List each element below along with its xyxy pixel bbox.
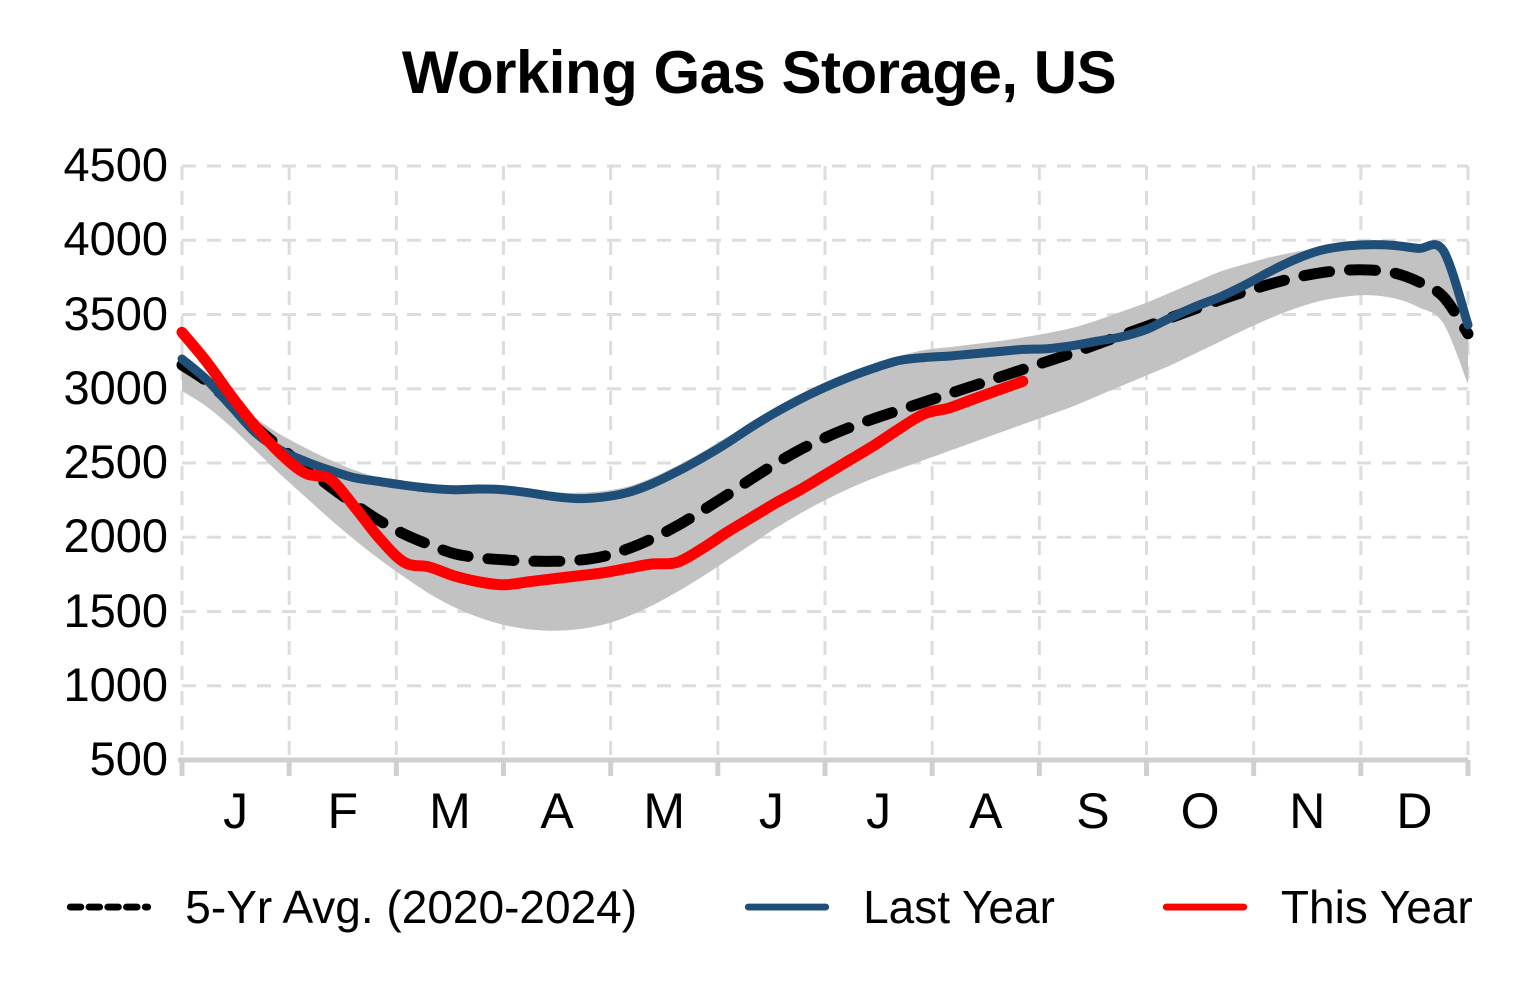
legend-label: Last Year [863,880,1055,934]
x-axis-tick-label: N [1277,786,1337,836]
x-axis-tick-label: F [313,786,373,836]
x-axis-tick-label: J [741,786,801,836]
x-axis-tick-label: J [849,786,909,836]
legend-swatch-2 [723,902,851,912]
y-axis-tick-label: 1500 [8,587,168,634]
x-axis-tick-label: M [634,786,694,836]
x-axis-tick-label: A [527,786,587,836]
x-axis-tick-label: M [420,786,480,836]
y-axis-tick-label: 2000 [8,512,168,559]
x-axis-tick-label: S [1063,786,1123,836]
chart-legend: 5-Yr Avg. (2020-2024)Last YearThis Year [0,880,1518,934]
y-axis-tick-label: 4000 [8,215,168,262]
x-axis-tick-label: D [1384,786,1444,836]
chart-plot-area [0,0,1518,990]
legend-label: 5-Yr Avg. (2020-2024) [185,880,637,934]
x-axis-tick-label: A [956,786,1016,836]
legend-swatch-3 [1141,902,1269,912]
x-axis-tick-label: O [1170,786,1230,836]
legend-item[interactable]: 5-Yr Avg. (2020-2024) [45,880,637,934]
legend-item[interactable]: This Year [1141,880,1473,934]
y-axis-tick-label: 1000 [8,661,168,708]
y-axis-tick-label: 500 [8,735,168,782]
chart-container: Working Gas Storage, US 4500400035003000… [0,0,1518,990]
legend-label: This Year [1281,880,1473,934]
legend-swatch-1 [45,902,173,912]
y-axis-tick-label: 4500 [8,141,168,188]
y-axis-tick-labels: 45004000350030002500200015001000500 [0,0,168,990]
legend-item[interactable]: Last Year [723,880,1055,934]
y-axis-tick-label: 2500 [8,438,168,485]
y-axis-tick-label: 3000 [8,364,168,411]
axis-lines [178,760,1468,776]
x-axis-tick-label: J [206,786,266,836]
y-axis-tick-label: 3500 [8,290,168,337]
